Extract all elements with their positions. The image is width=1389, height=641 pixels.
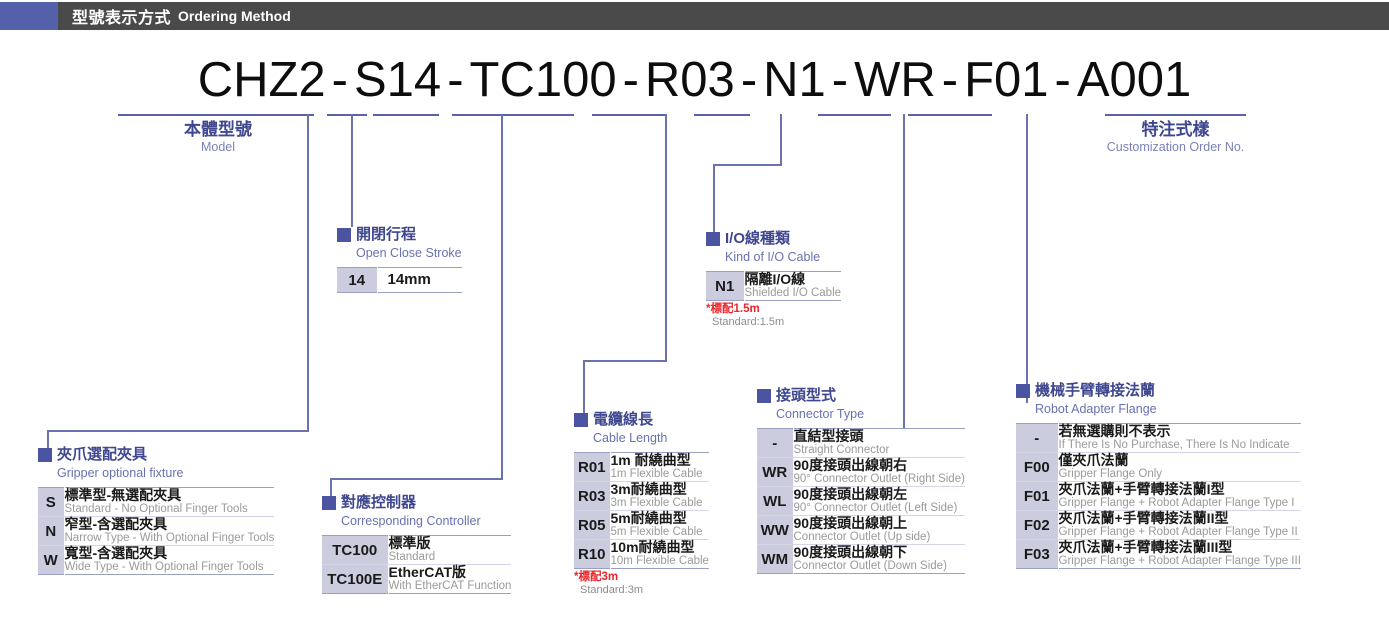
- code-underline-custom: [1105, 114, 1246, 116]
- option-code: S: [38, 488, 64, 517]
- option-desc-zh: 隔離I/O線: [745, 272, 842, 287]
- callout-customization: 特注式樣 Customization Order No.: [1105, 120, 1246, 155]
- callout-connector-type-title-en: Connector Type: [776, 407, 864, 421]
- callout-cable-length: 電纜線長 Cable Length R01 1m 耐繞曲型 1m Flexibl…: [574, 411, 709, 597]
- table-row[interactable]: - 直結型接頭 Straight Connector: [757, 429, 965, 458]
- table-row[interactable]: R03 3m耐繞曲型 3m Flexible Cable: [574, 482, 709, 511]
- option-code: F02: [1016, 511, 1058, 540]
- header-title-bar: 型號表示方式 Ordering Method: [58, 2, 1389, 30]
- code-underline-flange: [908, 114, 992, 116]
- option-desc-en: Connector Outlet (Down Side): [794, 560, 965, 573]
- leader-cable-h1: [583, 360, 667, 362]
- option-desc-en: Narrow Type - With Optional Finger Tools: [65, 532, 275, 545]
- callout-controller: 對應控制器 Corresponding Controller TC100 標準版…: [322, 494, 511, 594]
- code-dash: -: [441, 53, 469, 107]
- page-title-zh: 型號表示方式: [72, 4, 171, 28]
- code-segment-wr: WR: [854, 53, 936, 107]
- option-desc-en: Wide Type - With Optional Finger Tools: [65, 561, 275, 574]
- option-code: TC100: [322, 536, 388, 565]
- option-desc: 直結型接頭 Straight Connector: [793, 429, 965, 458]
- table-row[interactable]: F00 僅夾爪法蘭 Gripper Flange Only: [1016, 453, 1301, 482]
- code-dash: -: [1049, 53, 1077, 107]
- option-desc: 90度接頭出線朝上 Connector Outlet (Up side): [793, 516, 965, 545]
- option-code: F01: [1016, 482, 1058, 511]
- bullet-square-icon: [322, 496, 336, 510]
- option-desc: 90度接頭出線朝下 Connector Outlet (Down Side): [793, 545, 965, 574]
- bullet-square-icon: [38, 448, 52, 462]
- code-underline-connector: [818, 114, 891, 116]
- leader-gripper-v1: [307, 114, 309, 432]
- option-code: WL: [757, 487, 793, 516]
- callout-robot-adapter-flange-head: 機械手臂轉接法蘭 Robot Adapter Flange: [1016, 382, 1301, 418]
- callout-controller-title-en: Corresponding Controller: [341, 514, 481, 528]
- code-segment-f01: F01: [964, 53, 1048, 107]
- leader-io-v2: [713, 164, 715, 232]
- option-desc-zh: 90度接頭出線朝上: [794, 516, 965, 531]
- leader-flange-v1: [1026, 114, 1028, 403]
- option-desc-en: Straight Connector: [794, 444, 965, 457]
- callout-model: 本體型號 Model: [120, 120, 316, 155]
- option-desc-en: Gripper Flange + Robot Adapter Flange Ty…: [1059, 497, 1301, 510]
- callout-io-cable-title-en: Kind of I/O Cable: [725, 250, 820, 264]
- callout-gripper-fixture: 夾爪選配夾具 Gripper optional fixture S 標準型-無選…: [38, 446, 274, 575]
- option-desc-zh: 標準型-無選配夾具: [65, 488, 275, 503]
- leader-controller-v1: [501, 114, 503, 478]
- callout-model-title-zh: 本體型號: [120, 120, 316, 140]
- bullet-square-icon: [337, 228, 351, 242]
- option-desc-zh: 3m耐繞曲型: [611, 482, 709, 497]
- option-desc-zh: 夾爪法蘭+手臂轉接法蘭I型: [1059, 482, 1301, 497]
- option-code: R03: [574, 482, 610, 511]
- callout-cable-length-head: 電纜線長 Cable Length: [574, 411, 709, 447]
- callout-io-cable-title-zh: I/O線種類: [725, 230, 790, 247]
- option-code: R01: [574, 453, 610, 482]
- callout-cable-length-title-zh: 電纜線長: [593, 411, 653, 428]
- leader-connector-v1: [903, 114, 905, 432]
- callout-io-cable-head: I/O線種類 Kind of I/O Cable: [706, 230, 841, 266]
- callout-robot-adapter-flange-title-zh: 機械手臂轉接法蘭: [1035, 382, 1155, 399]
- option-desc-zh: 1m 耐繞曲型: [611, 453, 709, 468]
- code-segment-a001: A001: [1077, 53, 1191, 107]
- callout-open-close-stroke-head: 開閉行程 Open Close Stroke: [337, 226, 462, 262]
- robot-adapter-flange-table: - 若無選購則不表示 If There Is No Purchase, Ther…: [1016, 423, 1301, 569]
- leader-io-h1: [713, 164, 782, 166]
- option-desc-zh: 90度接頭出線朝右: [794, 458, 965, 473]
- option-code: W: [38, 546, 64, 575]
- option-desc-en: Gripper Flange + Robot Adapter Flange Ty…: [1059, 526, 1301, 539]
- callout-open-close-stroke: 開閉行程 Open Close Stroke 14 14mm: [337, 226, 462, 293]
- option-code: R10: [574, 540, 610, 569]
- callout-connector-type: 接頭型式 Connector Type - 直結型接頭 Straight Con…: [757, 387, 965, 574]
- callout-controller-title-zh: 對應控制器: [341, 494, 416, 511]
- leader-cable-v1: [665, 114, 667, 360]
- option-desc: 5m耐繞曲型 5m Flexible Cable: [610, 511, 709, 540]
- option-desc-en: With EtherCAT Function: [389, 580, 512, 593]
- callout-gripper-fixture-head: 夾爪選配夾具 Gripper optional fixture: [38, 446, 274, 482]
- option-code: R05: [574, 511, 610, 540]
- option-code: -: [757, 429, 793, 458]
- code-underline-gripper: [327, 114, 367, 116]
- option-desc: 10m耐繞曲型 10m Flexible Cable: [610, 540, 709, 569]
- option-desc-zh: 夾爪法蘭+手臂轉接法蘭III型: [1059, 540, 1301, 555]
- option-desc-en: If There Is No Purchase, There Is No Ind…: [1059, 439, 1301, 452]
- connector-type-table: - 直結型接頭 Straight Connector WR 90度接頭出線朝右 …: [757, 428, 965, 574]
- leader-stroke-v1: [351, 114, 353, 227]
- option-desc-zh: 10m耐繞曲型: [611, 540, 709, 555]
- option-code: -: [1016, 424, 1058, 453]
- io-cable-note-zh: *標配1.5m: [706, 303, 841, 316]
- code-dash: -: [826, 53, 854, 107]
- option-desc-en: Gripper Flange Only: [1059, 468, 1301, 481]
- option-code: WW: [757, 516, 793, 545]
- option-desc: 若無選購則不表示 If There Is No Purchase, There …: [1058, 424, 1301, 453]
- open-close-stroke-table: 14 14mm: [337, 267, 462, 293]
- option-desc: 標準型-無選配夾具 Standard - No Optional Finger …: [64, 488, 274, 517]
- option-code: WM: [757, 545, 793, 574]
- callout-robot-adapter-flange: 機械手臂轉接法蘭 Robot Adapter Flange - 若無選購則不表示…: [1016, 382, 1301, 569]
- code-segment-tc100: TC100: [470, 53, 617, 107]
- code-dash: -: [735, 53, 763, 107]
- option-desc-en: Gripper Flange + Robot Adapter Flange Ty…: [1059, 555, 1301, 568]
- leader-io-v1: [780, 114, 782, 164]
- bullet-square-icon: [1016, 384, 1030, 398]
- callout-model-title-en: Model: [120, 140, 316, 155]
- code-segment-n1: N1: [763, 53, 826, 107]
- code-segment-s14: S14: [354, 53, 441, 107]
- leader-gripper-h1: [47, 430, 309, 432]
- callout-open-close-stroke-title-zh: 開閉行程: [356, 226, 416, 243]
- code-underline-stroke: [373, 114, 439, 116]
- option-desc-en: Shielded I/O Cable: [745, 287, 842, 300]
- code-segment-model: CHZ2: [198, 53, 326, 107]
- leader-controller-h1: [330, 478, 503, 480]
- option-desc: 90度接頭出線朝左 90° Connector Outlet (Left Sid…: [793, 487, 965, 516]
- option-desc-zh: 標準版: [389, 536, 512, 551]
- header-accent-block: [0, 2, 58, 30]
- option-desc: 夾爪法蘭+手臂轉接法蘭II型 Gripper Flange + Robot Ad…: [1058, 511, 1301, 540]
- option-desc: 夾爪法蘭+手臂轉接法蘭III型 Gripper Flange + Robot A…: [1058, 540, 1301, 569]
- code-underline-io-cable: [694, 114, 750, 116]
- option-desc: 窄型-含選配夾具 Narrow Type - With Optional Fin…: [64, 517, 274, 546]
- page-header: 型號表示方式 Ordering Method: [0, 2, 1389, 30]
- table-row[interactable]: WR 90度接頭出線朝右 90° Connector Outlet (Right…: [757, 458, 965, 487]
- option-desc: 僅夾爪法蘭 Gripper Flange Only: [1058, 453, 1301, 482]
- leader-cable-v2: [583, 360, 585, 413]
- table-row[interactable]: F02 夾爪法蘭+手臂轉接法蘭II型 Gripper Flange + Robo…: [1016, 511, 1301, 540]
- option-code: N: [38, 517, 64, 546]
- callout-gripper-fixture-title-en: Gripper optional fixture: [57, 466, 183, 480]
- model-code-line: CHZ2-S14-TC100-R03-N1-WR-F01-A001: [0, 52, 1389, 108]
- option-desc-en: 5m Flexible Cable: [611, 526, 709, 539]
- callout-customization-title-zh: 特注式樣: [1105, 120, 1246, 140]
- code-underline-cable-length: [592, 114, 667, 116]
- option-desc-zh: 90度接頭出線朝左: [794, 487, 965, 502]
- option-desc-zh: 5m耐繞曲型: [611, 511, 709, 526]
- option-desc: 隔離I/O線 Shielded I/O Cable: [744, 272, 841, 301]
- table-row[interactable]: WM 90度接頭出線朝下 Connector Outlet (Down Side…: [757, 545, 965, 574]
- code-dash: -: [617, 53, 645, 107]
- io-cable-note-en: Standard:1.5m: [712, 316, 841, 329]
- table-row[interactable]: WW 90度接頭出線朝上 Connector Outlet (Up side): [757, 516, 965, 545]
- option-desc-en: Connector Outlet (Up side): [794, 531, 965, 544]
- option-desc: 寬型-含選配夾具 Wide Type - With Optional Finge…: [64, 546, 274, 575]
- table-row[interactable]: R01 1m 耐繞曲型 1m Flexible Cable: [574, 453, 709, 482]
- table-row[interactable]: R10 10m耐繞曲型 10m Flexible Cable: [574, 540, 709, 569]
- option-code: F03: [1016, 540, 1058, 569]
- option-desc: 14mm: [377, 268, 462, 293]
- callout-open-close-stroke-title-en: Open Close Stroke: [356, 246, 462, 260]
- option-desc-en: 90° Connector Outlet (Left Side): [794, 502, 965, 515]
- callout-cable-length-title-en: Cable Length: [593, 431, 667, 445]
- table-row[interactable]: TC100E EtherCAT版 With EtherCAT Function: [322, 565, 511, 594]
- table-row[interactable]: F01 夾爪法蘭+手臂轉接法蘭I型 Gripper Flange + Robot…: [1016, 482, 1301, 511]
- page-title-en: Ordering Method: [178, 8, 291, 24]
- io-cable-table: N1 隔離I/O線 Shielded I/O Cable: [706, 271, 841, 301]
- option-code: 14: [337, 268, 377, 293]
- option-code: WR: [757, 458, 793, 487]
- table-row[interactable]: 14 14mm: [337, 268, 462, 293]
- table-row[interactable]: N1 隔離I/O線 Shielded I/O Cable: [706, 272, 841, 301]
- table-row[interactable]: W 寬型-含選配夾具 Wide Type - With Optional Fin…: [38, 546, 274, 575]
- option-code: F00: [1016, 453, 1058, 482]
- option-desc-zh: 直結型接頭: [794, 429, 965, 444]
- option-desc-zh: 夾爪法蘭+手臂轉接法蘭II型: [1059, 511, 1301, 526]
- option-desc-en: Standard: [389, 551, 512, 564]
- option-desc-en: Standard - No Optional Finger Tools: [65, 503, 275, 516]
- gripper-fixture-table: S 標準型-無選配夾具 Standard - No Optional Finge…: [38, 487, 274, 575]
- option-desc-en: 3m Flexible Cable: [611, 497, 709, 510]
- bullet-square-icon: [757, 389, 771, 403]
- table-row[interactable]: F03 夾爪法蘭+手臂轉接法蘭III型 Gripper Flange + Rob…: [1016, 540, 1301, 569]
- option-desc: 夾爪法蘭+手臂轉接法蘭I型 Gripper Flange + Robot Ada…: [1058, 482, 1301, 511]
- code-dash: -: [936, 53, 964, 107]
- callout-customization-title-en: Customization Order No.: [1105, 140, 1246, 155]
- option-desc: 3m耐繞曲型 3m Flexible Cable: [610, 482, 709, 511]
- option-desc: EtherCAT版 With EtherCAT Function: [388, 565, 511, 594]
- option-desc-en: 10m Flexible Cable: [611, 555, 709, 568]
- option-desc: 標準版 Standard: [388, 536, 511, 565]
- callout-gripper-fixture-title-zh: 夾爪選配夾具: [57, 446, 147, 463]
- option-desc-zh: 窄型-含選配夾具: [65, 517, 275, 532]
- table-row[interactable]: R05 5m耐繞曲型 5m Flexible Cable: [574, 511, 709, 540]
- option-value: 14mm: [388, 271, 431, 288]
- option-code: N1: [706, 272, 744, 301]
- option-desc: 90度接頭出線朝右 90° Connector Outlet (Right Si…: [793, 458, 965, 487]
- option-desc-en: 90° Connector Outlet (Right Side): [794, 473, 965, 486]
- cable-length-note-zh: *標配3m: [574, 571, 709, 584]
- code-underline-controller: [452, 114, 574, 116]
- table-row[interactable]: TC100 標準版 Standard: [322, 536, 511, 565]
- option-code: TC100E: [322, 565, 388, 594]
- option-desc: 1m 耐繞曲型 1m Flexible Cable: [610, 453, 709, 482]
- callout-connector-type-head: 接頭型式 Connector Type: [757, 387, 965, 423]
- option-desc-zh: 90度接頭出線朝下: [794, 545, 965, 560]
- code-segment-r03: R03: [645, 53, 735, 107]
- callout-io-cable: I/O線種類 Kind of I/O Cable N1 隔離I/O線 Shiel…: [706, 230, 841, 329]
- option-desc-en: 1m Flexible Cable: [611, 468, 709, 481]
- option-desc-zh: 寬型-含選配夾具: [65, 546, 275, 561]
- controller-table: TC100 標準版 Standard TC100E EtherCAT版 With…: [322, 535, 511, 594]
- callout-robot-adapter-flange-title-en: Robot Adapter Flange: [1035, 402, 1157, 416]
- callout-controller-head: 對應控制器 Corresponding Controller: [322, 494, 511, 530]
- option-desc-zh: EtherCAT版: [389, 565, 512, 580]
- table-row[interactable]: N 窄型-含選配夾具 Narrow Type - With Optional F…: [38, 517, 274, 546]
- table-row[interactable]: S 標準型-無選配夾具 Standard - No Optional Finge…: [38, 488, 274, 517]
- cable-length-note-en: Standard:3m: [580, 584, 709, 597]
- table-row[interactable]: WL 90度接頭出線朝左 90° Connector Outlet (Left …: [757, 487, 965, 516]
- callout-connector-type-title-zh: 接頭型式: [776, 387, 836, 404]
- option-desc-zh: 若無選購則不表示: [1059, 424, 1301, 439]
- code-underline-model: [118, 114, 314, 116]
- option-desc-zh: 僅夾爪法蘭: [1059, 453, 1301, 468]
- bullet-square-icon: [574, 413, 588, 427]
- cable-length-table: R01 1m 耐繞曲型 1m Flexible Cable R03 3m耐繞曲型…: [574, 452, 709, 569]
- bullet-square-icon: [706, 232, 720, 246]
- code-dash: -: [326, 53, 354, 107]
- table-row[interactable]: - 若無選購則不表示 If There Is No Purchase, Ther…: [1016, 424, 1301, 453]
